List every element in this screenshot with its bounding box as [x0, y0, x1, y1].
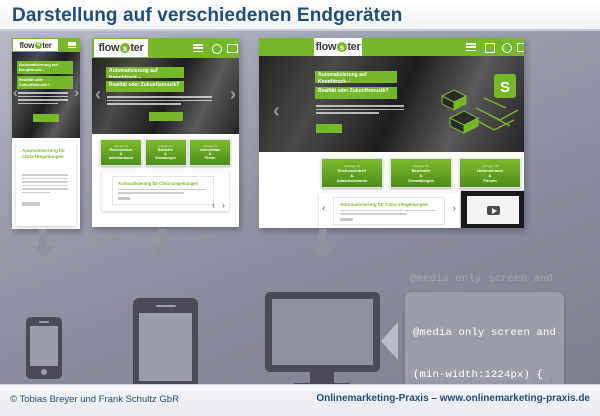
desktop-hero-paragraph: [316, 105, 404, 116]
footer-copyright: © Tobias Breyer und Frank Schultz GbR: [10, 394, 179, 405]
tablet-cards: Lösungen für Rechenzentren & Administrat…: [100, 139, 231, 164]
hero-prev-arrow[interactable]: ‹: [273, 100, 280, 123]
desktop-panel-title: Automatisierung für Citrix-Umgebungen: [340, 202, 428, 207]
hero-next-arrow[interactable]: ›: [230, 84, 236, 105]
mobile-hero-headline-2: Realität oder Zukunftsmusik?: [17, 76, 73, 89]
desktop-hero-cta[interactable]: [316, 124, 342, 133]
logo-post: ter: [347, 41, 360, 53]
desktop-logo[interactable]: flowster: [314, 38, 362, 56]
logo-post: ter: [130, 42, 143, 54]
mobile-panel-text: [22, 174, 68, 195]
logo-pre: flow: [316, 41, 337, 53]
footer-site: Onlinemarketing-Praxis – www.onlinemarke…: [316, 393, 590, 404]
tablet-panel-title: Automatisierung für Citrix-Umgebungen: [118, 181, 198, 186]
desktop-hero: Automatisierung auf Knopfdruck – Realitä…: [259, 56, 524, 152]
monitor-silhouette: [265, 292, 380, 372]
page-title: Darstellung auf verschiedenen Endgeräten: [0, 5, 402, 27]
slide-title-bar: Darstellung auf verschiedenen Endgeräten: [0, 0, 600, 31]
mobile-panel-title: Automatisierung für Citrix-Umgebungen: [22, 148, 70, 160]
search-icon[interactable]: [212, 44, 222, 54]
network-illustration: S: [414, 68, 522, 148]
download-icon[interactable]: [485, 43, 495, 53]
card-line-3: Verwaltungen: [408, 178, 434, 183]
card-line-3: Firmen: [205, 156, 216, 160]
play-icon[interactable]: [487, 206, 500, 215]
logo-post: ter: [42, 41, 51, 50]
arrow-left-pointer: [381, 322, 398, 360]
desktop-hero-headline-1: Automatisierung auf Knopfdruck –: [315, 71, 397, 83]
menu-icon[interactable]: [193, 44, 203, 52]
cart-icon[interactable]: [517, 43, 524, 52]
arrow-down-tablet: [152, 229, 174, 259]
card-line-3: Firmen: [483, 178, 496, 183]
card-kicker: Lösungen für: [203, 145, 218, 148]
hero-prev-arrow[interactable]: ‹: [95, 84, 101, 105]
card-behoerden[interactable]: Lösungen für Behörden & Verwaltungen: [145, 139, 187, 166]
desktop-panel-inner: Automatisierung für Citrix-Umgebungen: [333, 197, 445, 225]
tablet-logo[interactable]: flowster: [94, 39, 148, 57]
mq-1224-line-1: @media only screen and: [413, 326, 556, 340]
menu-icon[interactable]: [466, 43, 476, 51]
card-line-3: Administratoren: [109, 156, 134, 160]
desktop-hero-headline-2: Realität oder Zukunftsmusik?: [315, 87, 397, 99]
hero-prev-arrow[interactable]: ‹: [13, 84, 18, 100]
desktop-panel-text: [340, 210, 436, 217]
search-icon[interactable]: [502, 43, 512, 53]
cart-icon[interactable]: [227, 44, 238, 53]
desktop-content-panel: Automatisierung für Citrix-Umgebungen ‹ …: [319, 193, 459, 228]
mq-768-line-1: @media only screen and: [410, 272, 553, 286]
tablet-hero-cta[interactable]: [149, 112, 183, 121]
logo-pre: flow: [99, 42, 120, 54]
logo-badge: s: [337, 42, 347, 52]
card-kicker: Lösungen für: [413, 164, 429, 168]
card-line-3: Verwaltungen: [155, 156, 176, 160]
hero-next-arrow[interactable]: ›: [74, 84, 79, 100]
card-kicker: Lösungen für: [344, 164, 360, 168]
card-kicker: Lösungen für: [158, 145, 173, 148]
card-behoerden[interactable]: Lösungen für Behörden & Verwaltungen: [390, 158, 452, 188]
tablet-hero-paragraph: [107, 96, 212, 107]
mobile-panel-button[interactable]: [22, 202, 40, 206]
card-rechenzentren[interactable]: Lösungen für Rechenzentren & Administrat…: [100, 139, 142, 166]
mobile-hero: Automatisierung auf Knopfdruck – Realitä…: [12, 52, 80, 138]
arrow-down-desktop: [312, 229, 334, 259]
panel-prev-arrow[interactable]: ‹: [322, 203, 325, 214]
panel-next-arrow[interactable]: ›: [453, 203, 456, 214]
panel-prev-arrow[interactable]: ‹: [212, 200, 215, 210]
mobile-content-panel: Automatisierung für Citrix-Umgebungen: [16, 142, 76, 226]
slide: Darstellung auf verschiedenen Endgeräten…: [0, 0, 600, 416]
logo-badge: s: [35, 42, 42, 49]
mobile-hero-paragraph: [18, 92, 68, 106]
desktop-panel-button[interactable]: [340, 218, 353, 221]
logo-badge: s: [120, 43, 130, 53]
menu-icon[interactable]: [68, 42, 76, 48]
slide-footer: © Tobias Breyer und Frank Schultz GbR On…: [0, 384, 600, 416]
mobile-hero-headline-1: Automatisierung auf Knopfdruck –: [17, 61, 73, 74]
card-rechenzentren[interactable]: Lösungen für Rechenzentren & Administrat…: [321, 158, 383, 188]
tablet-panel-button[interactable]: [118, 197, 130, 200]
tablet-site-mock[interactable]: flowster Automatisierung auf Knopfdruck …: [92, 38, 239, 227]
card-kicker: Lösungen für: [482, 164, 498, 168]
tablet-panel-inner: Automatisierung für Citrix-Umgebungen: [112, 176, 214, 205]
card-kicker: Lösungen für: [114, 145, 129, 148]
mobile-site-mock[interactable]: flowster Automatisierung auf Knopfdruck …: [12, 38, 80, 229]
card-line-3: Administratoren: [337, 178, 368, 183]
desktop-cards: Lösungen für Rechenzentren & Administrat…: [321, 158, 521, 186]
mobile-hero-cta[interactable]: [33, 114, 59, 122]
card-unternehmen[interactable]: Lösungen für Unternehmen & Firmen: [189, 139, 231, 166]
arrow-down-mobile: [32, 229, 54, 259]
panel-next-arrow[interactable]: ›: [222, 200, 225, 210]
stage: flowster Automatisierung auf Knopfdruck …: [0, 31, 600, 385]
desktop-site-mock[interactable]: flowster Automatisierung auf Knopfdruck …: [259, 38, 524, 228]
mobile-logo[interactable]: flowster: [13, 39, 58, 51]
tablet-hero-headline-1: Automatisierung auf Knopfdruck –: [106, 67, 184, 78]
logo-pre: flow: [19, 41, 34, 50]
svg-text:S: S: [500, 79, 510, 96]
tablet-content-panel: Automatisierung für Citrix-Umgebungen ‹ …: [102, 171, 229, 211]
smartphone-silhouette: [26, 317, 62, 379]
tablet-silhouette: [133, 298, 198, 398]
video-preview[interactable]: [460, 190, 524, 228]
tablet-hero: Automatisierung auf Knopfdruck – Realitä…: [92, 58, 239, 134]
tablet-hero-headline-2: Realität oder Zukunftsmusik?: [106, 81, 184, 92]
tablet-panel-text: [118, 189, 206, 196]
card-unternehmen[interactable]: Lösungen für Unternehmen & Firmen: [459, 158, 521, 188]
